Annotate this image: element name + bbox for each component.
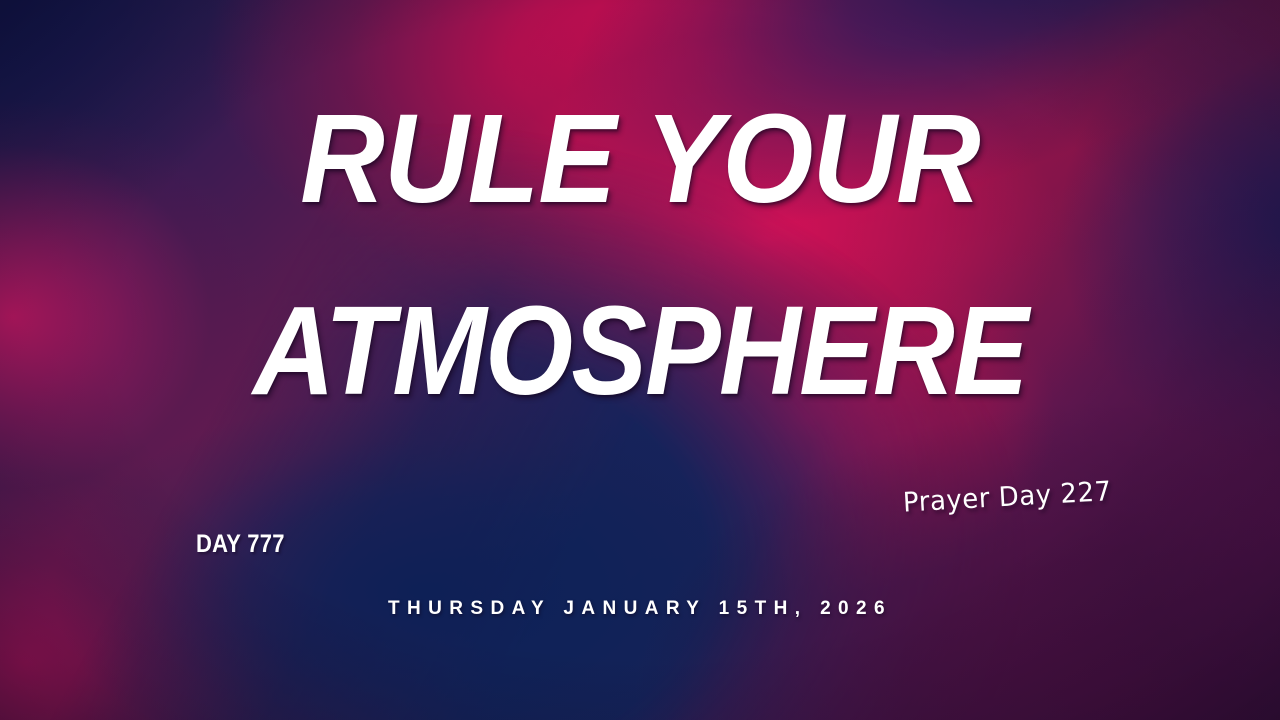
headline-line-two: ATMOSPHERE xyxy=(64,288,1216,414)
sermon-title-slide: RULE YOUR ATMOSPHERE Prayer Day 227 DAY … xyxy=(0,0,1280,720)
date-label: THURSDAY JANUARY 15TH, 2026 xyxy=(0,598,1280,620)
slide-text-layer: RULE YOUR ATMOSPHERE Prayer Day 227 DAY … xyxy=(0,0,1280,720)
headline-line-one: RULE YOUR xyxy=(45,96,1235,222)
prayer-day-label: Prayer Day 227 xyxy=(903,476,1113,519)
day-count-label: DAY 777 xyxy=(196,530,285,559)
